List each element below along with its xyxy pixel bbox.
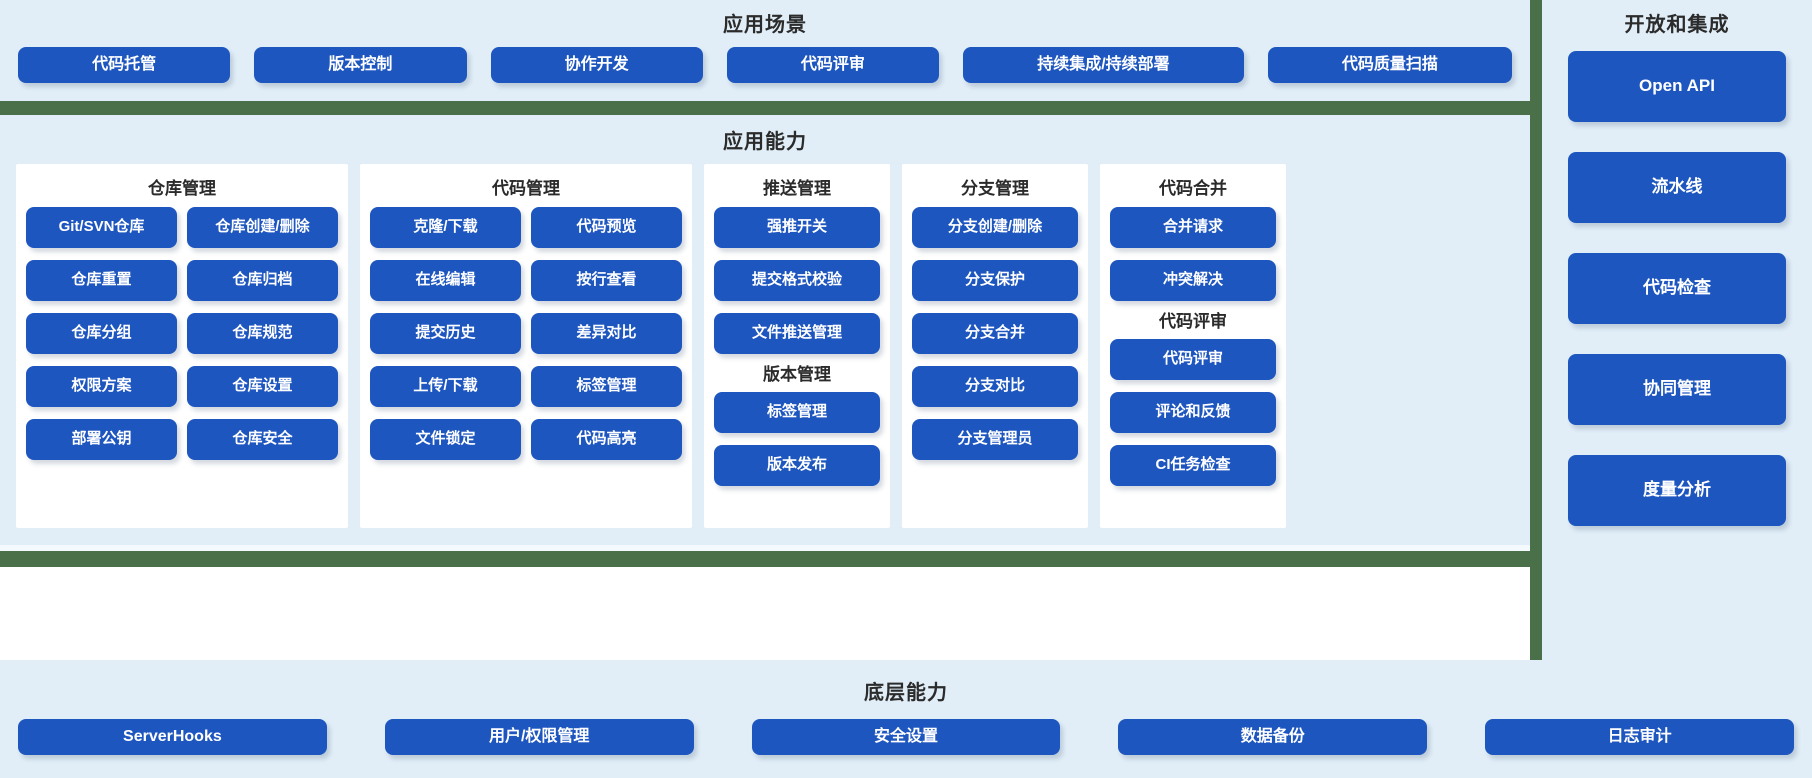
capability-item[interactable]: 版本发布 <box>714 445 880 486</box>
card-sub-items: 代码评审 评论和反馈 CI任务检查 <box>1110 339 1276 486</box>
integration-title: 开放和集成 <box>1542 8 1812 37</box>
capability-item[interactable]: 代码评审 <box>1110 339 1276 380</box>
capability-item[interactable]: 上传/下载 <box>370 366 521 407</box>
scenario-item[interactable]: 持续集成/持续部署 <box>963 47 1244 83</box>
foundation-item[interactable]: 安全设置 <box>752 719 1061 755</box>
divider-capability-foundation <box>0 551 1530 567</box>
capability-item[interactable]: 提交格式校验 <box>714 260 880 301</box>
card-title: 代码管理 <box>370 174 682 199</box>
card-items: 合并请求 冲突解决 <box>1110 207 1276 301</box>
capability-item[interactable]: 合并请求 <box>1110 207 1276 248</box>
integration-item[interactable]: 度量分析 <box>1568 455 1786 526</box>
integration-item[interactable]: 代码检查 <box>1568 253 1786 324</box>
capability-item[interactable]: 代码高亮 <box>531 419 682 460</box>
card-title: 仓库管理 <box>26 174 338 199</box>
capability-item[interactable]: 仓库规范 <box>187 313 338 354</box>
foundation-section: 底层能力 ServerHooks 用户/权限管理 安全设置 数据备份 日志审计 <box>0 660 1812 778</box>
integration-list: Open API 流水线 代码检查 协同管理 度量分析 <box>1542 51 1812 526</box>
scenarios-section: 应用场景 代码托管 版本控制 协作开发 代码评审 持续集成/持续部署 代码质量扫… <box>0 0 1530 101</box>
divider-scenarios-capability <box>0 101 1530 115</box>
capability-columns: 仓库管理 Git/SVN仓库 仓库创建/删除 仓库重置 仓库归档 仓库分组 仓库… <box>0 164 1530 528</box>
capability-item[interactable]: 在线编辑 <box>370 260 521 301</box>
capability-item[interactable]: 分支创建/删除 <box>912 207 1078 248</box>
capability-item[interactable]: Git/SVN仓库 <box>26 207 177 248</box>
card-subtitle: 版本管理 <box>714 360 880 385</box>
integration-item[interactable]: 协同管理 <box>1568 354 1786 425</box>
capability-card-code: 代码管理 克隆/下载 代码预览 在线编辑 按行查看 提交历史 差异对比 上传/下… <box>360 164 692 528</box>
capability-item[interactable]: 部署公钥 <box>26 419 177 460</box>
card-title: 推送管理 <box>714 174 880 199</box>
capability-item[interactable]: 评论和反馈 <box>1110 392 1276 433</box>
scenario-item[interactable]: 版本控制 <box>254 47 466 83</box>
integration-item[interactable]: 流水线 <box>1568 152 1786 223</box>
capability-item[interactable]: 仓库创建/删除 <box>187 207 338 248</box>
foundation-row: ServerHooks 用户/权限管理 安全设置 数据备份 日志审计 <box>0 719 1812 755</box>
card-items: 克隆/下载 代码预览 在线编辑 按行查看 提交历史 差异对比 上传/下载 标签管… <box>370 207 682 460</box>
capability-item[interactable]: 仓库安全 <box>187 419 338 460</box>
capability-item[interactable]: 权限方案 <box>26 366 177 407</box>
capability-item[interactable]: 代码预览 <box>531 207 682 248</box>
card-subtitle: 代码评审 <box>1110 307 1276 332</box>
architecture-diagram: 应用场景 代码托管 版本控制 协作开发 代码评审 持续集成/持续部署 代码质量扫… <box>0 0 1812 778</box>
capability-card-merge: 代码合并 合并请求 冲突解决 代码评审 代码评审 评论和反馈 CI任务检查 <box>1100 164 1286 528</box>
card-sub-items: 标签管理 版本发布 <box>714 392 880 486</box>
capability-card-repository: 仓库管理 Git/SVN仓库 仓库创建/删除 仓库重置 仓库归档 仓库分组 仓库… <box>16 164 348 528</box>
capability-item[interactable]: 冲突解决 <box>1110 260 1276 301</box>
capability-item[interactable]: 仓库重置 <box>26 260 177 301</box>
capability-item[interactable]: 仓库设置 <box>187 366 338 407</box>
capability-item[interactable]: 文件锁定 <box>370 419 521 460</box>
capability-item[interactable]: 标签管理 <box>714 392 880 433</box>
capability-item[interactable]: 分支对比 <box>912 366 1078 407</box>
capability-item[interactable]: 仓库归档 <box>187 260 338 301</box>
integration-item[interactable]: Open API <box>1568 51 1786 122</box>
foundation-item[interactable]: 日志审计 <box>1485 719 1794 755</box>
card-title: 分支管理 <box>912 174 1078 199</box>
capability-item[interactable]: 分支管理员 <box>912 419 1078 460</box>
capability-card-branch: 分支管理 分支创建/删除 分支保护 分支合并 分支对比 分支管理员 <box>902 164 1088 528</box>
scenarios-row: 代码托管 版本控制 协作开发 代码评审 持续集成/持续部署 代码质量扫描 <box>0 47 1530 83</box>
capability-card-push: 推送管理 强推开关 提交格式校验 文件推送管理 版本管理 标签管理 版本发布 <box>704 164 890 528</box>
capability-item[interactable]: 克隆/下载 <box>370 207 521 248</box>
scenario-item[interactable]: 代码质量扫描 <box>1268 47 1512 83</box>
capability-item[interactable]: CI任务检查 <box>1110 445 1276 486</box>
scenario-item[interactable]: 代码托管 <box>18 47 230 83</box>
scenario-item[interactable]: 代码评审 <box>727 47 939 83</box>
capability-section: 应用能力 仓库管理 Git/SVN仓库 仓库创建/删除 仓库重置 仓库归档 仓库… <box>0 115 1530 545</box>
capability-item[interactable]: 标签管理 <box>531 366 682 407</box>
capability-item[interactable]: 文件推送管理 <box>714 313 880 354</box>
capability-item[interactable]: 按行查看 <box>531 260 682 301</box>
capability-item[interactable]: 仓库分组 <box>26 313 177 354</box>
card-items: 分支创建/删除 分支保护 分支合并 分支对比 分支管理员 <box>912 207 1078 460</box>
scenarios-title: 应用场景 <box>0 8 1530 37</box>
capability-item[interactable]: 强推开关 <box>714 207 880 248</box>
card-items: 强推开关 提交格式校验 文件推送管理 <box>714 207 880 354</box>
foundation-item[interactable]: 用户/权限管理 <box>385 719 694 755</box>
capability-title: 应用能力 <box>0 125 1530 154</box>
capability-item[interactable]: 分支保护 <box>912 260 1078 301</box>
card-title: 代码合并 <box>1110 174 1276 199</box>
foundation-item[interactable]: 数据备份 <box>1118 719 1427 755</box>
foundation-item[interactable]: ServerHooks <box>18 719 327 755</box>
capability-item[interactable]: 提交历史 <box>370 313 521 354</box>
capability-item[interactable]: 分支合并 <box>912 313 1078 354</box>
capability-item[interactable]: 差异对比 <box>531 313 682 354</box>
foundation-title: 底层能力 <box>0 676 1812 705</box>
scenario-item[interactable]: 协作开发 <box>491 47 703 83</box>
card-items: Git/SVN仓库 仓库创建/删除 仓库重置 仓库归档 仓库分组 仓库规范 权限… <box>26 207 338 460</box>
